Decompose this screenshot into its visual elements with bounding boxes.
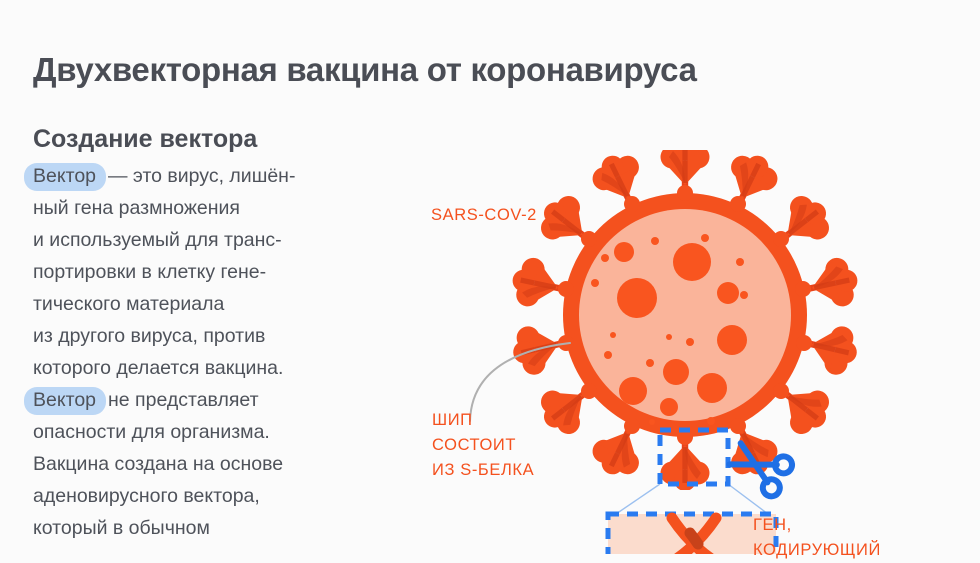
label-gene-line-1: ГЕН, xyxy=(753,513,881,538)
label-spike-protein: ШИП СОСТОИТ ИЗ S-БЕЛКА xyxy=(432,408,534,483)
label-spike-line-3: ИЗ S-БЕЛКА xyxy=(432,458,534,483)
callout-connector-lines xyxy=(616,484,768,514)
label-spike-line-1: ШИП xyxy=(432,408,534,433)
infographic-canvas: Двухвекторная вакцина от коронавируса Со… xyxy=(0,0,980,554)
body-line-10: Вакцина создана на основе xyxy=(33,448,413,480)
body-line-5: тического материала xyxy=(33,288,413,320)
body-line-7: которого делается вакцина. xyxy=(33,352,413,384)
body-line-8: Векторне представляет xyxy=(33,384,413,416)
vector-highlight-pill-1: Вектор xyxy=(24,163,106,191)
spike-selection-box xyxy=(660,430,728,484)
label-spike-line-2: СОСТОИТ xyxy=(432,433,534,458)
page-title: Двухвекторная вакцина от коронавируса xyxy=(33,51,697,89)
label-gene: ГЕН, КОДИРУЮЩИЙ xyxy=(753,513,881,563)
body-line-1: Вектор— это вирус, лишён- xyxy=(33,160,413,192)
body-line-6: из другого вируса, против xyxy=(33,320,413,352)
body-line-1-text: — это вирус, лишён- xyxy=(108,165,295,187)
body-line-11: аденовирусного вектора, xyxy=(33,480,413,512)
body-line-2: ный гена размножения xyxy=(33,192,413,224)
label-gene-line-2: КОДИРУЮЩИЙ xyxy=(753,538,881,563)
label-sars-cov-2: SARS-COV-2 xyxy=(431,206,537,225)
body-line-9: опасности для организма. xyxy=(33,416,413,448)
body-line-4: портировки в клетку гене- xyxy=(33,256,413,288)
body-line-12: который в обычном xyxy=(33,512,413,544)
virus-body xyxy=(579,209,791,421)
vector-highlight-pill-2: Вектор xyxy=(24,387,106,415)
dna-helix-crossing xyxy=(690,533,698,544)
section-title: Создание вектора xyxy=(33,125,257,154)
body-line-3: и используемый для транс- xyxy=(33,224,413,256)
body-line-8-text: не представляет xyxy=(108,389,259,411)
body-copy: Вектор— это вирус, лишён- ный гена размн… xyxy=(33,160,413,544)
